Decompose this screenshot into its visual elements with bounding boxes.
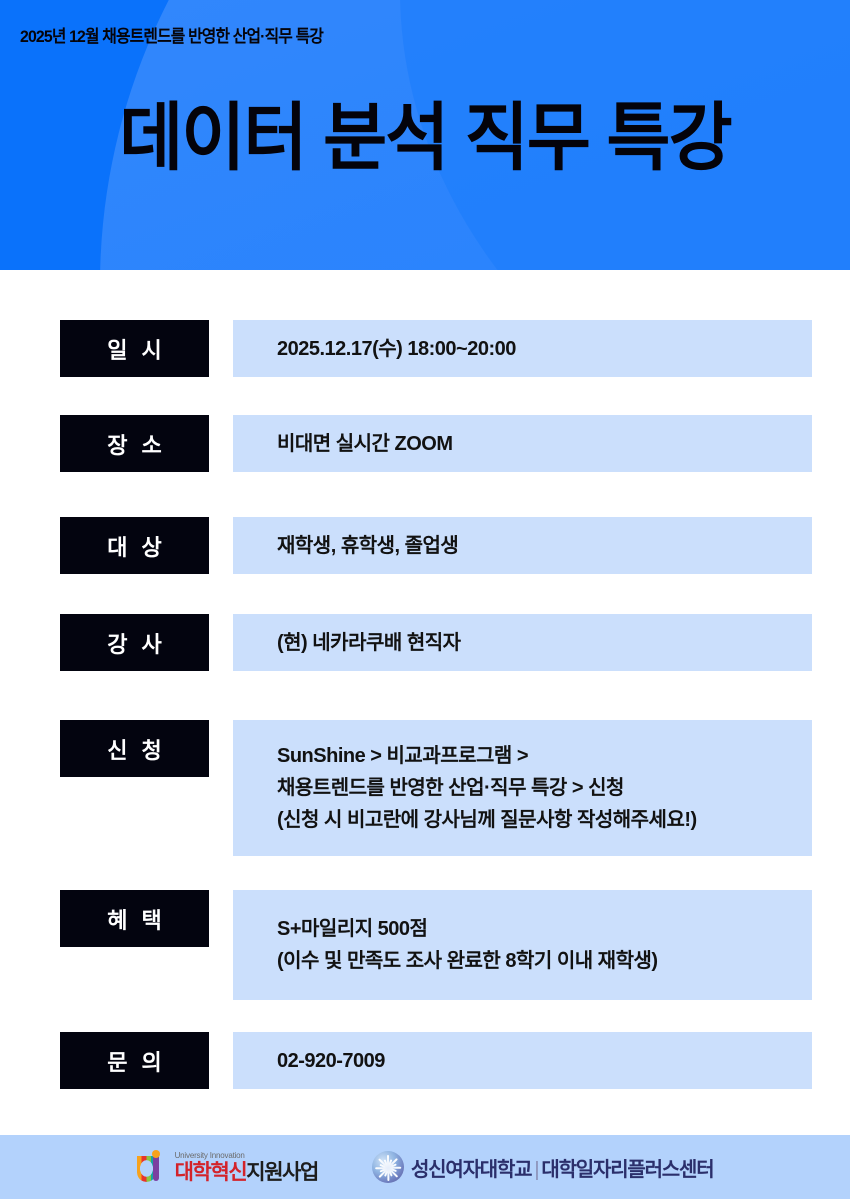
page-title: 데이터 분석 직무 특강	[26, 96, 825, 180]
footer-logo-bar: University Innovation 대학혁신지원사업 성신여자대학교|대…	[0, 1135, 850, 1199]
info-row-value: 02-920-7009	[233, 1032, 812, 1089]
info-row-label: 강 사	[60, 614, 209, 671]
info-row-value-line: 비대면 실시간 ZOOM	[277, 428, 812, 460]
sungshin-name: 성신여자대학교	[411, 1159, 531, 1181]
banner-kicker-text: 2025년 12월 채용트렌드를 반영한 산업·직무 특강	[20, 22, 323, 47]
info-row-value-line: S+마일리지 500점	[277, 913, 812, 945]
logo-korean-label: 대학혁신지원사업	[175, 1162, 318, 1183]
info-row-value: (현) 네카라쿠배 현직자	[233, 614, 812, 671]
info-row-label: 장 소	[60, 415, 209, 472]
sungshin-emblem-icon	[372, 1151, 404, 1183]
info-row-value-line: 채용트렌드를 반영한 산업·직무 특강 > 신청	[277, 772, 812, 804]
logo-sungshin-university: 성신여자대학교|대학일자리플러스센터	[372, 1151, 713, 1183]
logo-korean-red: 대학혁신	[175, 1161, 247, 1184]
info-row-value: SunShine > 비교과프로그램 >채용트렌드를 반영한 산업·직무 특강 …	[233, 720, 812, 856]
sungshin-center-name: 대학일자리플러스센터	[541, 1159, 713, 1181]
info-row-value-line: (이수 및 만족도 조사 완료한 8학기 이내 재학생)	[277, 945, 812, 977]
header-banner: 2025년 12월 채용트렌드를 반영한 산업·직무 특강 데이터 분석 직무 …	[0, 0, 850, 270]
info-row-label: 대 상	[60, 517, 209, 574]
logo-korean-black: 지원사업	[246, 1161, 318, 1184]
info-row-label: 신 청	[60, 720, 209, 777]
info-row-label: 일 시	[60, 320, 209, 377]
info-row-value: 재학생, 휴학생, 졸업생	[233, 517, 812, 574]
university-innovation-wordmark: University Innovation 대학혁신지원사업	[175, 1152, 318, 1183]
info-row-value-line: 2025.12.17(수) 18:00~20:00	[277, 333, 812, 365]
sungshin-wordmark: 성신여자대학교|대학일자리플러스센터	[411, 1153, 713, 1182]
logo-university-innovation: University Innovation 대학혁신지원사업	[137, 1150, 318, 1184]
info-row-value: S+마일리지 500점(이수 및 만족도 조사 완료한 8학기 이내 재학생)	[233, 890, 812, 1000]
sungshin-divider: |	[534, 1159, 538, 1181]
logo-english-label: University Innovation	[175, 1152, 318, 1160]
university-innovation-mark-icon	[137, 1150, 168, 1184]
info-row-value-line: 재학생, 휴학생, 졸업생	[277, 530, 812, 562]
info-row-value: 비대면 실시간 ZOOM	[233, 415, 812, 472]
info-row-value-line: SunShine > 비교과프로그램 >	[277, 740, 812, 772]
info-row-value-line: (신청 시 비고란에 강사님께 질문사항 작성해주세요!)	[277, 804, 812, 836]
info-row-value-line: (현) 네카라쿠배 현직자	[277, 627, 812, 659]
info-row-label: 혜 택	[60, 890, 209, 947]
info-row-value-line: 02-920-7009	[277, 1045, 812, 1077]
info-row-value: 2025.12.17(수) 18:00~20:00	[233, 320, 812, 377]
info-row-label: 문 의	[60, 1032, 209, 1089]
